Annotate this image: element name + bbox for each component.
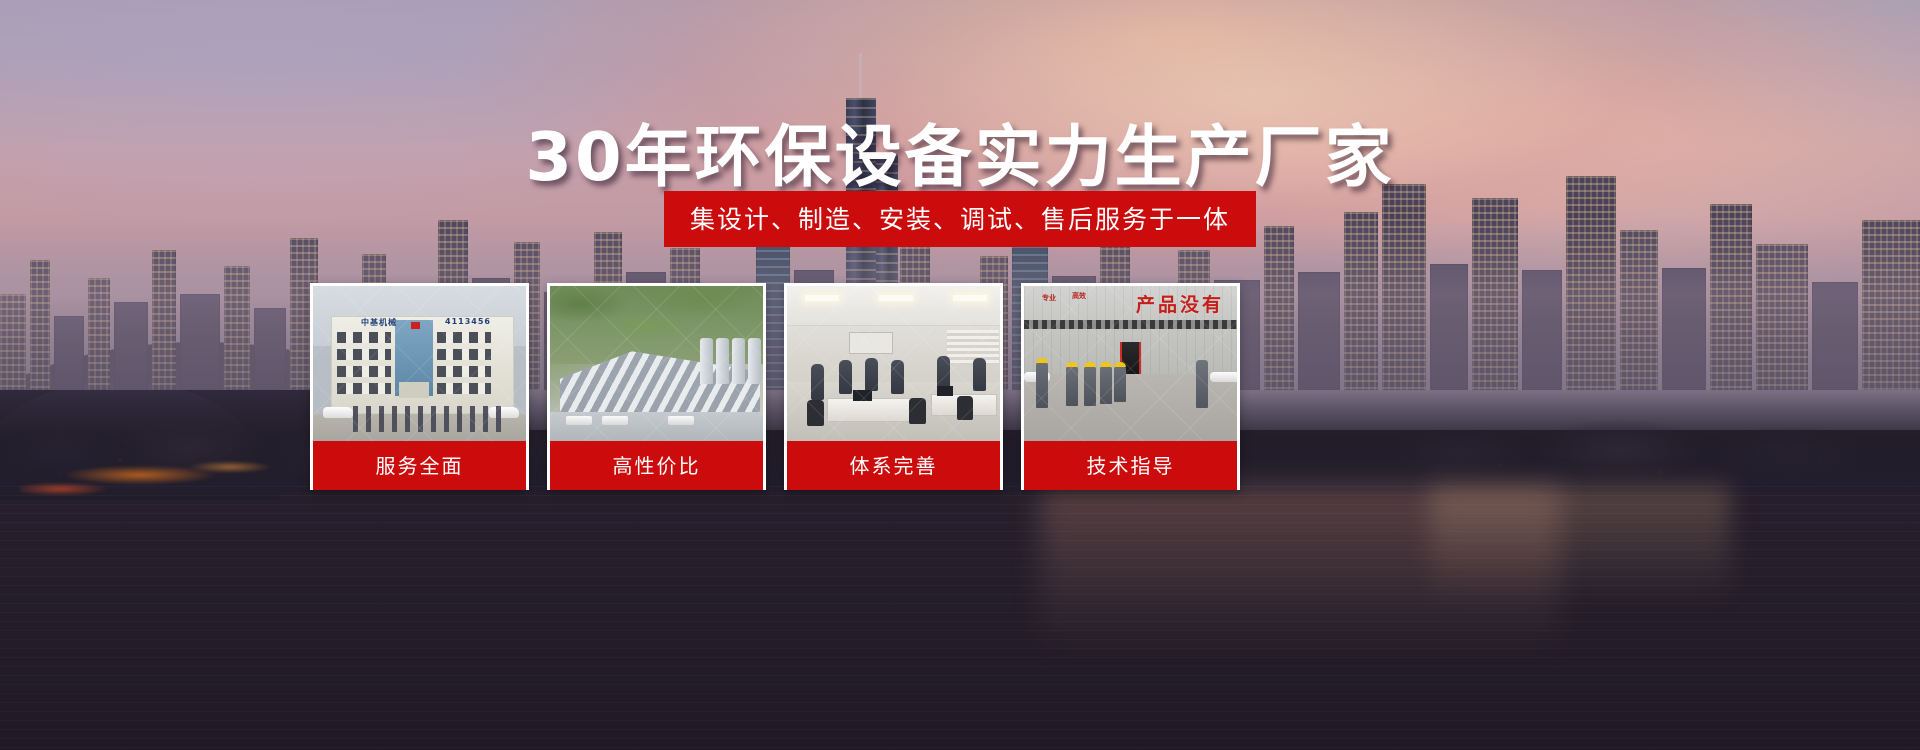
feature-card-label: 高性价比	[550, 441, 763, 490]
silo-shape	[716, 338, 729, 384]
meeting-desk	[827, 398, 919, 422]
silo-shape	[732, 338, 745, 384]
office-chair	[957, 396, 973, 420]
worker-figure	[1114, 366, 1126, 402]
company-phone-text: 4113456	[445, 317, 491, 326]
window-row	[437, 332, 491, 343]
supervisor-figure	[1196, 360, 1208, 408]
truck-shape	[566, 416, 592, 425]
ceiling-light	[953, 295, 987, 301]
feature-card-system[interactable]: 体系完善	[784, 283, 1003, 490]
facade-window-band	[1024, 320, 1237, 329]
parked-car	[1210, 372, 1237, 382]
feature-card-label: 服务全面	[313, 441, 526, 490]
hard-hat	[1100, 362, 1112, 367]
feature-card-row: 中基机械 4113456 服务全面	[310, 283, 1560, 490]
company-office-building-photo: 中基机械 4113456	[313, 286, 526, 441]
factory-wall-slogan: 高效	[1072, 292, 1086, 300]
factory-wall-slogan: 专业	[1042, 294, 1056, 302]
window-row	[337, 349, 391, 360]
parked-car	[323, 407, 353, 418]
entrance-portico	[399, 382, 429, 398]
hard-hat	[1084, 362, 1096, 367]
seated-person	[891, 360, 904, 394]
office-ceiling	[787, 286, 1000, 326]
staff-lineup	[353, 406, 503, 432]
seated-person	[937, 356, 950, 388]
worker-figure	[1036, 362, 1048, 408]
wall-board	[849, 332, 893, 354]
seated-person	[973, 358, 986, 391]
feature-card-label: 体系完善	[787, 441, 1000, 490]
truck-shape	[602, 416, 628, 425]
company-sign-text: 中基机械	[361, 317, 397, 328]
window-row	[437, 349, 491, 360]
window-row	[437, 366, 491, 377]
office-team-meeting-photo	[787, 286, 1000, 441]
window-row	[437, 383, 491, 394]
seated-person	[839, 360, 852, 394]
office-chair	[807, 400, 824, 426]
hard-hat	[1114, 362, 1126, 367]
feature-card-label: 技术指导	[1024, 441, 1237, 490]
worker-figure	[1084, 366, 1096, 406]
factory-wall-headline: 产品没有	[1136, 290, 1224, 317]
seated-person	[865, 358, 878, 391]
factory-workers-briefing-photo: 产品没有 专业 高效	[1024, 286, 1237, 441]
laptop	[853, 390, 872, 401]
flag-shape	[411, 322, 420, 329]
hero-banner: 30年环保设备实力生产厂家 集设计、制造、安装、调试、售后服务于一体 中	[0, 0, 1920, 750]
office-chair	[909, 398, 926, 424]
truck-shape	[668, 416, 694, 425]
banner-headline: 30年环保设备实力生产厂家	[0, 103, 1920, 200]
feature-card-value[interactable]: 高性价比	[547, 283, 766, 490]
silo-shape	[748, 338, 761, 384]
banner-subtitle: 集设计、制造、安装、调试、售后服务于一体	[664, 191, 1256, 247]
feature-card-guidance[interactable]: 产品没有 专业 高效 技术指导	[1021, 283, 1240, 490]
feature-card-service[interactable]: 中基机械 4113456 服务全面	[310, 283, 529, 490]
ceiling-light	[805, 295, 839, 301]
window-row	[337, 332, 391, 343]
seated-person	[811, 364, 824, 400]
worker-figure	[1100, 366, 1112, 404]
window-row	[337, 383, 391, 394]
hard-hat	[1036, 358, 1048, 363]
worker-figure	[1066, 366, 1078, 406]
subtitle-bar-wrapper: 集设计、制造、安装、调试、售后服务于一体	[0, 191, 1920, 247]
aerial-production-plant-photo	[550, 286, 763, 441]
laptop	[937, 386, 953, 396]
silo-shape	[700, 338, 713, 384]
ceiling-light	[879, 295, 913, 301]
hard-hat	[1066, 362, 1078, 367]
window-row	[337, 366, 391, 377]
